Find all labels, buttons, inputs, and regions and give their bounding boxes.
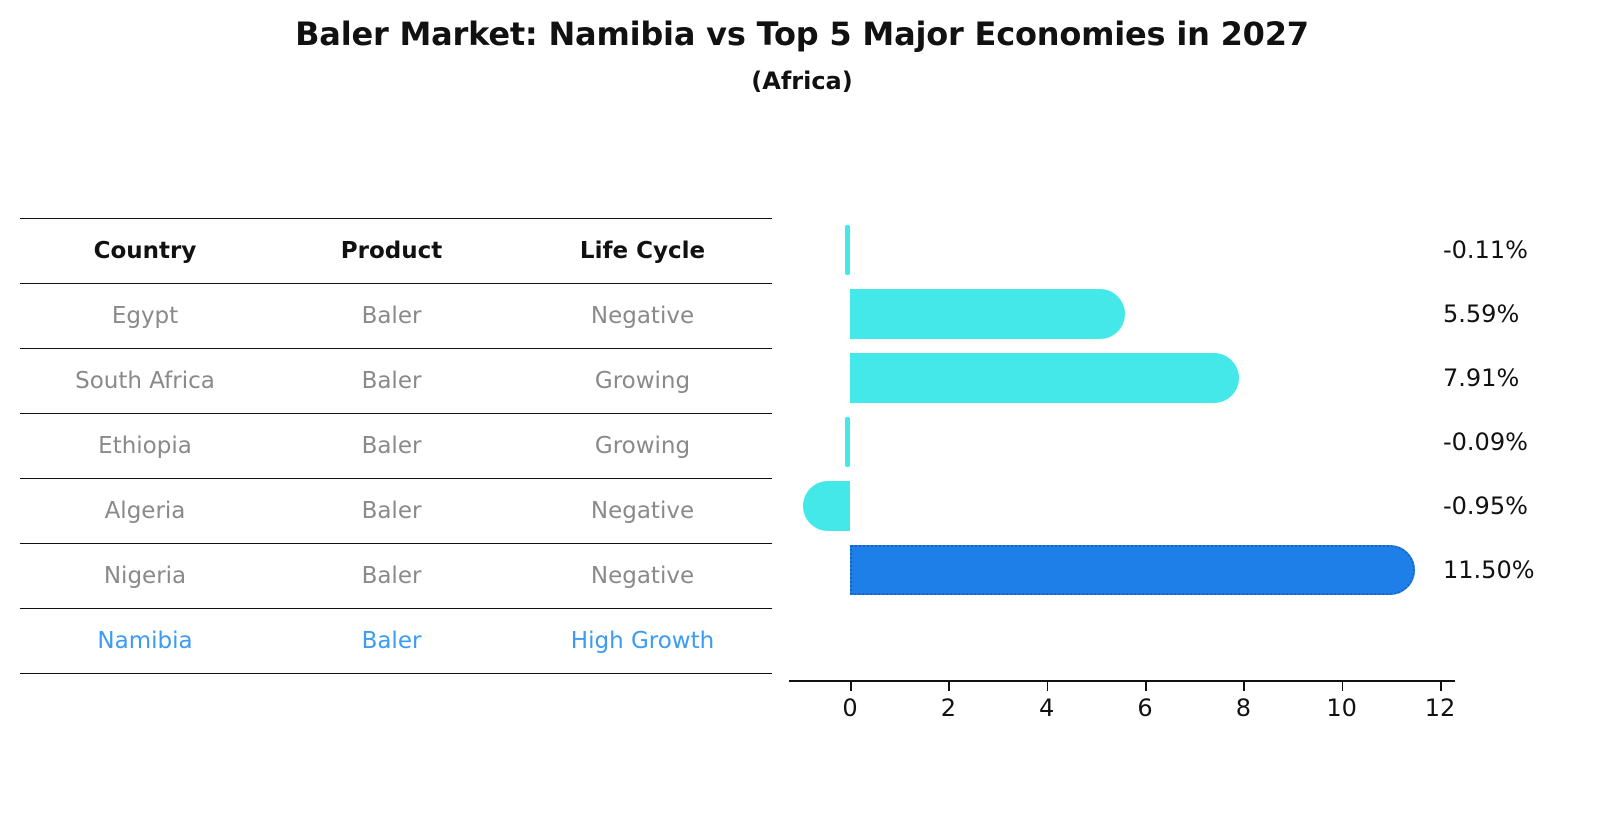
cell-country: Nigeria <box>20 544 270 609</box>
table-header-row: Country Product Life Cycle <box>20 219 772 284</box>
x-tick-label: 12 <box>1425 694 1456 722</box>
x-tick-mark <box>1243 682 1245 691</box>
x-tick-mark <box>948 682 950 691</box>
title-block: Baler Market: Namibia vs Top 5 Major Eco… <box>0 14 1604 96</box>
bar-namibia <box>850 545 1415 595</box>
value-label-ethiopia: 7.91% <box>1443 346 1603 410</box>
table-header: Country Product Life Cycle <box>20 219 772 284</box>
cell-life-cycle: High Growth <box>513 609 772 674</box>
value-label-namibia: 11.50% <box>1443 538 1603 602</box>
cell-product: Baler <box>270 544 513 609</box>
table-row: South Africa Baler Growing <box>20 349 772 414</box>
table-row: Egypt Baler Negative <box>20 284 772 349</box>
cell-country: Namibia <box>20 609 270 674</box>
cell-life-cycle: Negative <box>513 479 772 544</box>
x-tick-label: 8 <box>1236 694 1251 722</box>
bar-row <box>775 474 1455 538</box>
table-row: Algeria Baler Negative <box>20 479 772 544</box>
bar-ethiopia <box>850 353 1239 403</box>
x-tick-mark <box>1440 682 1442 691</box>
value-label-south-africa: 5.59% <box>1443 282 1603 346</box>
cell-product: Baler <box>270 479 513 544</box>
x-tick-mark <box>1342 682 1344 691</box>
cell-life-cycle: Growing <box>513 349 772 414</box>
table-row: Nigeria Baler Negative <box>20 544 772 609</box>
bar-egypt <box>845 225 850 275</box>
cell-country: Egypt <box>20 284 270 349</box>
table-row: Ethiopia Baler Growing <box>20 414 772 479</box>
page-title: Baler Market: Namibia vs Top 5 Major Eco… <box>0 14 1604 54</box>
cell-product: Baler <box>270 349 513 414</box>
column-header-country: Country <box>20 219 270 284</box>
column-header-product: Product <box>270 219 513 284</box>
cell-life-cycle: Growing <box>513 414 772 479</box>
bar-row <box>775 538 1455 602</box>
cell-country: Algeria <box>20 479 270 544</box>
cell-product: Baler <box>270 284 513 349</box>
value-label-nigeria: -0.95% <box>1443 474 1603 538</box>
bar-row <box>775 410 1455 474</box>
x-tick-mark <box>1145 682 1147 691</box>
value-label-algeria: -0.09% <box>1443 410 1603 474</box>
cell-product: Baler <box>270 609 513 674</box>
value-label-column: -0.11% 5.59% 7.91% -0.09% -0.95% 11.50% <box>1443 218 1603 680</box>
bar-south-africa <box>850 289 1125 339</box>
cell-life-cycle: Negative <box>513 544 772 609</box>
data-table: Country Product Life Cycle Egypt Baler N… <box>20 218 772 674</box>
bar-row <box>775 282 1455 346</box>
page-subtitle: (Africa) <box>0 66 1604 96</box>
cell-country: Ethiopia <box>20 414 270 479</box>
x-tick-mark <box>1047 682 1049 691</box>
table-body: Egypt Baler Negative South Africa Baler … <box>20 284 772 674</box>
cell-country: South Africa <box>20 349 270 414</box>
x-tick-label: 0 <box>842 694 857 722</box>
bar-nigeria <box>803 481 850 531</box>
x-tick-label: 6 <box>1137 694 1152 722</box>
bar-row <box>775 346 1455 410</box>
x-tick-label: 10 <box>1326 694 1357 722</box>
cell-product: Baler <box>270 414 513 479</box>
table-row-highlighted: Namibia Baler High Growth <box>20 609 772 674</box>
x-tick-label: 2 <box>941 694 956 722</box>
x-tick-label: 4 <box>1039 694 1054 722</box>
cell-life-cycle: Negative <box>513 284 772 349</box>
x-axis: 024681012 <box>775 680 1455 740</box>
bar-chart-plot-area <box>775 218 1455 680</box>
x-axis-line <box>789 680 1455 682</box>
column-header-life-cycle: Life Cycle <box>513 219 772 284</box>
bar-algeria <box>845 417 850 467</box>
x-tick-mark <box>850 682 852 691</box>
data-table-panel: Country Product Life Cycle Egypt Baler N… <box>20 218 772 680</box>
value-label-egypt: -0.11% <box>1443 218 1603 282</box>
bar-row <box>775 218 1455 282</box>
